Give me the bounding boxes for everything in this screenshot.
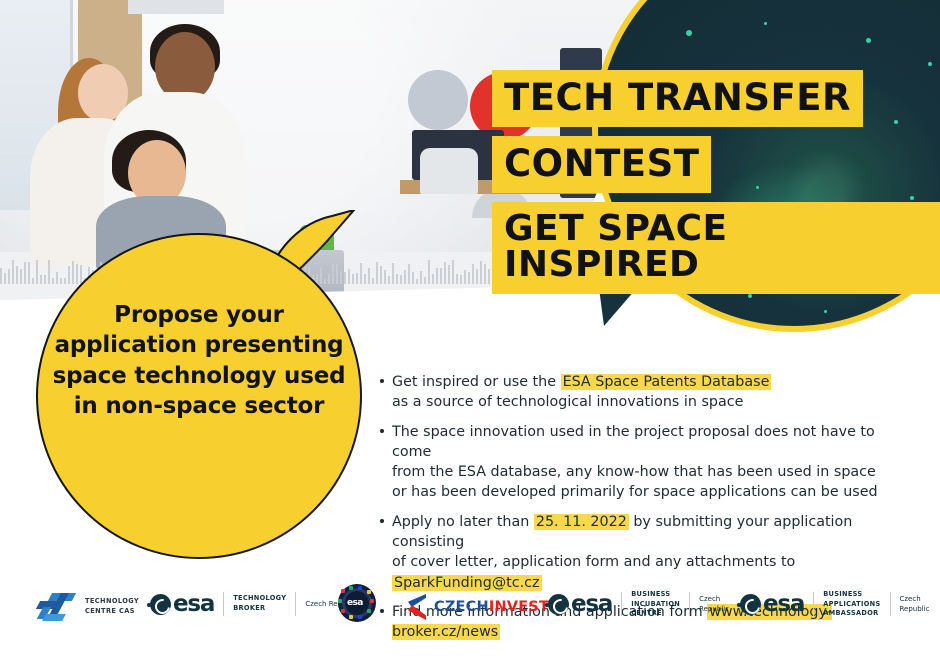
logo-czechinvest: CZECHINVEST	[406, 594, 549, 620]
waveform-bar	[44, 275, 46, 284]
divider	[621, 592, 622, 616]
esa-role-text: BUSINESS INCUBATION CENTRE	[631, 590, 680, 619]
waveform-bar	[456, 274, 458, 284]
esa-wordmark-text: esa	[571, 593, 612, 616]
logo-bar: TECHNOLOGY CENTRE CAS esa TECHNOLOGY BRO…	[0, 578, 940, 658]
waveform-bar	[448, 265, 450, 284]
logo-esa-business-applications-ambassador: esa BUSINESS APPLICATIONS AMBASSADOR Cze…	[740, 590, 929, 619]
waveform-bar	[8, 269, 10, 284]
waveform-bar	[440, 268, 442, 284]
esa-role-text: BUSINESS APPLICATIONS AMBASSADOR	[823, 590, 880, 619]
waveform-bar	[0, 268, 2, 284]
czechinvest-text: CZECHINVEST	[434, 599, 549, 615]
esa-logo-mark	[150, 594, 171, 615]
esa-wordmark: esa	[740, 593, 804, 616]
bullet-text: Apply no later than	[392, 514, 534, 530]
waveform-bar	[472, 264, 474, 284]
esa-role-line-3: CENTRE	[631, 609, 680, 619]
waveform-bar	[32, 278, 34, 284]
star	[824, 310, 827, 313]
logo-technology-centre-cas: TECHNOLOGY CENTRE CAS	[38, 590, 139, 624]
bullet-text: or has been developed primarily for spac…	[392, 484, 878, 500]
tc-logo-text: TECHNOLOGY CENTRE CAS	[85, 597, 139, 617]
waveform-bar	[68, 266, 70, 284]
waveform-bar	[396, 274, 398, 284]
czechinvest-word-1: CZECH	[434, 599, 489, 615]
waveform-bar	[432, 274, 434, 284]
esa-role-line-2: APPLICATIONS	[823, 600, 880, 610]
esa-wordmark: esa	[150, 593, 214, 616]
waveform-bar	[380, 266, 382, 284]
esa-role-line-1: TECHNOLOGY	[233, 594, 286, 604]
waveform-bar	[412, 272, 414, 284]
waveform-bar	[416, 279, 418, 284]
waveform-bar	[400, 275, 402, 284]
headline-line-3: GET SPACE INSPIRED	[492, 202, 940, 294]
waveform-bar	[428, 260, 430, 284]
star	[928, 62, 932, 66]
waveform-bar	[384, 270, 386, 284]
divider	[689, 592, 690, 616]
waveform-bar	[392, 263, 394, 284]
divider	[295, 592, 296, 616]
bubble-line-4: in non-space sector	[46, 391, 352, 421]
star	[866, 38, 871, 43]
bubble-text: Propose your application presenting spac…	[46, 300, 352, 421]
esa-role-line-3: AMBASSADOR	[823, 609, 880, 619]
waveform-bar	[4, 273, 6, 284]
waveform-bar	[20, 269, 22, 284]
esa-country-line-2: Republic	[900, 604, 930, 614]
waveform-bar	[476, 269, 478, 284]
waveform-bar	[388, 276, 390, 284]
esa-role-text: TECHNOLOGY BROKER	[233, 594, 286, 613]
bullet-text: Get inspired or use the	[392, 374, 561, 390]
waveform-bar	[420, 271, 422, 284]
headline-line-1: TECH TRANSFER	[492, 70, 863, 127]
bubble-line-2: application presenting	[46, 330, 352, 360]
esa-country-line-2: Republic	[699, 604, 729, 614]
bullet-text: from the ESA database, any know-how that…	[392, 464, 876, 480]
waveform-bar	[488, 269, 490, 284]
waveform-bar	[64, 278, 66, 284]
bullet-innovation-source: The space innovation used in the project…	[378, 422, 918, 503]
headline-line-2: CONTEST	[492, 136, 711, 193]
waveform-bar	[52, 278, 54, 284]
esa-wordmark-text: esa	[763, 593, 804, 616]
waveform-bar	[56, 272, 58, 284]
bullet-text: as a source of technological innovations…	[392, 394, 743, 410]
office-chair	[420, 148, 478, 194]
logo-esa-business-incubation-centre: esa BUSINESS INCUBATION CENTRE Czech Rep…	[548, 590, 729, 619]
bullet-text: The space innovation used in the project…	[392, 424, 875, 460]
czechinvest-mark	[406, 594, 428, 620]
star	[686, 30, 692, 36]
waveform-bar	[12, 260, 14, 284]
star	[764, 22, 767, 25]
waveform-bar	[76, 264, 78, 284]
wall-circle-gray	[408, 70, 468, 130]
esa-logo-mark	[548, 594, 569, 615]
waveform-bar	[460, 275, 462, 284]
czechinvest-word-2: INVEST	[489, 599, 549, 615]
waveform-bar	[464, 270, 466, 284]
waveform-bar	[444, 262, 446, 284]
waveform-bar	[28, 262, 30, 284]
esa-role-line-2: INCUBATION	[631, 600, 680, 610]
logo-esa-member-states: esa	[340, 586, 374, 620]
divider	[223, 592, 224, 616]
highlighted-text[interactable]: 25. 11. 2022	[534, 514, 629, 530]
esa-flags-mark: esa	[340, 586, 374, 620]
esa-flags-wordmark: esa	[347, 598, 363, 608]
waveform-bar	[72, 261, 74, 284]
esa-country-text: Czech Republic	[699, 594, 729, 614]
divider	[813, 592, 814, 616]
waveform-bar	[436, 268, 438, 284]
tc-title-line-1: TECHNOLOGY	[85, 597, 139, 607]
waveform-bar	[468, 272, 470, 284]
esa-role-line-1: BUSINESS	[631, 590, 680, 600]
poster-root: Propose your application presenting spac…	[0, 0, 940, 658]
bullet-text: of cover letter, application form and an…	[392, 554, 795, 570]
bullet-inspiration: Get inspired or use the ESA Space Patent…	[378, 372, 918, 413]
esa-country-line-1: Czech	[699, 594, 729, 604]
bubble-line-3: space technology used	[46, 361, 352, 391]
waveform-bar	[404, 270, 406, 284]
tc-logo-mark	[38, 590, 78, 624]
highlighted-text[interactable]: ESA Space Patents Database	[561, 374, 772, 390]
waveform-bar	[48, 260, 50, 284]
esa-wordmark: esa	[548, 593, 612, 616]
waveform-bar	[60, 278, 62, 284]
esa-logo-mark	[740, 594, 761, 615]
headline: TECH TRANSFER CONTEST GET SPACE INSPIRED	[492, 70, 940, 303]
esa-country-line-1: Czech	[900, 594, 930, 604]
esa-wordmark-text: esa	[173, 593, 214, 616]
waveform-bar	[24, 262, 26, 284]
waveform-bar	[408, 264, 410, 284]
waveform-bar	[40, 275, 42, 284]
waveform-bar	[484, 264, 486, 284]
waveform-bar	[480, 261, 482, 284]
waveform-bar	[424, 277, 426, 284]
bubble-line-1: Propose your	[46, 300, 352, 330]
esa-role-line-1: BUSINESS	[823, 590, 880, 600]
waveform-bar	[16, 266, 18, 284]
waveform-bar	[36, 260, 38, 284]
ceiling-light	[128, 0, 224, 14]
divider	[890, 592, 891, 616]
esa-role-line-2: BROKER	[233, 604, 286, 614]
tc-title-line-2: CENTRE CAS	[85, 607, 139, 617]
logo-esa-technology-broker: esa TECHNOLOGY BROKER Czech Republic	[150, 592, 359, 616]
waveform-bar	[452, 260, 454, 284]
esa-country-text: Czech Republic	[900, 594, 930, 614]
